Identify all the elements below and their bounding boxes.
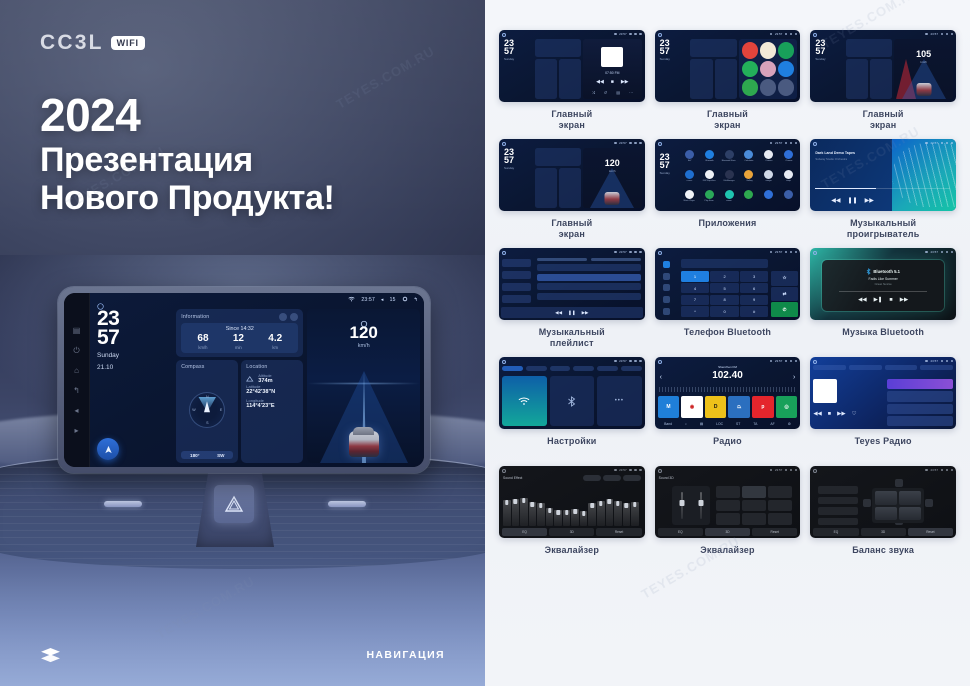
- prev-icon[interactable]: ◀◀: [858, 297, 866, 303]
- information-widget[interactable]: Information Since 14:32: [176, 309, 303, 357]
- widgets-column: Information Since 14:32: [176, 309, 303, 463]
- app-item[interactable]: [760, 190, 778, 208]
- favorite-icon[interactable]: ♡: [852, 411, 857, 417]
- effect-button[interactable]: [716, 486, 740, 498]
- status-time: 23:57: [930, 32, 938, 36]
- list-icon[interactable]: ▤: [616, 90, 620, 95]
- sidebar-item[interactable]: [502, 283, 531, 291]
- ta-icon[interactable]: TA: [753, 422, 757, 426]
- app-item[interactable]: Camera: [760, 150, 778, 168]
- app-item[interactable]: [780, 190, 798, 208]
- play-pause-icon[interactable]: ▶❚: [874, 297, 883, 303]
- sidebar-item[interactable]: [502, 271, 531, 279]
- back-arrow-icon[interactable]: ↰: [414, 297, 418, 303]
- list-item[interactable]: [537, 293, 640, 300]
- app-icon[interactable]: [742, 42, 758, 59]
- app-item[interactable]: DSP Equalizer: [701, 170, 719, 188]
- thumbnail-home-music[interactable]: 23:57 23 57 Sunday 07:5: [499, 30, 645, 102]
- location-widget: [559, 168, 581, 208]
- eq-tab[interactable]: EQ: [658, 528, 703, 536]
- thumbnail-playlist[interactable]: 23:57 ◀◀❚❚▶▶: [499, 248, 645, 320]
- equalizer-footer[interactable]: EQ 3D Reset: [502, 528, 642, 536]
- thumbnail-settings[interactable]: 23:57: [499, 357, 645, 429]
- app-item[interactable]: Maps: [780, 170, 798, 188]
- pause-icon[interactable]: ❚❚: [848, 197, 858, 204]
- next-icon[interactable]: ▶▶: [582, 310, 589, 316]
- eq-band[interactable]: [520, 498, 528, 526]
- eq-band[interactable]: [614, 501, 622, 526]
- preset-station[interactable]: ◉: [681, 396, 703, 418]
- navigation-panel[interactable]: 120 km/h: [307, 309, 420, 463]
- eq-tab[interactable]: Reset: [752, 528, 797, 536]
- list-item[interactable]: [887, 416, 953, 426]
- gallery-cell[interactable]: 23:57 23 57 Sunday 07:5: [499, 30, 645, 131]
- more-icon[interactable]: ⋯: [629, 90, 633, 95]
- thumbnail-music-player[interactable]: 23:57 Dark Land Demo Tapes Subway Studio…: [810, 139, 956, 211]
- eq-band[interactable]: [563, 510, 571, 526]
- player-controls[interactable]: ◀◀ ▶❚ ■ ▶▶: [858, 297, 908, 303]
- expand-icon[interactable]: [290, 313, 298, 321]
- player-controls[interactable]: ◀◀ ❚❚ ▶▶: [810, 197, 894, 204]
- contacts-icon[interactable]: [663, 273, 670, 280]
- call-icon[interactable]: ✆: [771, 302, 799, 317]
- app-item[interactable]: Bluetooth: [701, 150, 719, 168]
- dial-pad[interactable]: 1 2 3 4 5 6 7 8 9 * 0 #: [681, 271, 768, 317]
- app-icon[interactable]: [742, 79, 758, 96]
- gallery-cell[interactable]: 23:57 Bluetooth 5.1 Fadis Like Summer Oc…: [810, 248, 956, 349]
- play-icon[interactable]: ■: [611, 79, 614, 85]
- dialpad-icon[interactable]: [663, 261, 670, 268]
- settings-icon[interactable]: ⚙: [788, 422, 791, 426]
- power-icon[interactable]: ⏻: [72, 346, 81, 355]
- eq-band[interactable]: [623, 503, 631, 526]
- gallery-cell[interactable]: 23:57 Shenzhen FM ‹ 102.40 › M ◉ D ⏢ p ◎: [655, 357, 801, 458]
- gear-icon: [790, 33, 793, 36]
- star-icon[interactable]: ☆: [771, 271, 799, 286]
- app-item[interactable]: Calculator: [740, 150, 758, 168]
- player-controls[interactable]: ◀◀■▶▶: [583, 79, 642, 85]
- stat-unit: km: [268, 345, 282, 350]
- app-icon[interactable]: [784, 170, 793, 179]
- effect-button[interactable]: [716, 513, 740, 525]
- band-icon[interactable]: Band: [664, 422, 672, 426]
- clock-day: Sunday: [813, 57, 844, 61]
- gear-icon[interactable]: [402, 296, 408, 304]
- stop-icon[interactable]: ■: [889, 297, 892, 303]
- sidebar-item[interactable]: [502, 295, 531, 303]
- dial-key[interactable]: *: [681, 306, 709, 317]
- cell-caption: Эквалайзер: [700, 545, 754, 567]
- eq-band[interactable]: [529, 502, 537, 526]
- progress-bar[interactable]: [815, 188, 950, 189]
- eq-tab[interactable]: EQ: [502, 528, 547, 536]
- eq-band[interactable]: [588, 503, 596, 526]
- gallery-cell[interactable]: 23:57 23 57 Sunday: [655, 30, 801, 131]
- app-icon[interactable]: [705, 150, 714, 159]
- prev-icon[interactable]: ◀◀: [555, 310, 562, 316]
- search-icon[interactable]: ⌕: [685, 422, 687, 426]
- app-icon[interactable]: [705, 190, 714, 199]
- dial-key[interactable]: 9: [740, 295, 768, 306]
- effect-button[interactable]: [742, 513, 766, 525]
- volume-icon: [785, 360, 788, 363]
- balance-up-icon[interactable]: [895, 479, 903, 487]
- app-icon[interactable]: [742, 61, 758, 78]
- effect-button[interactable]: [742, 486, 766, 498]
- playlist-table[interactable]: [535, 256, 642, 306]
- tab-wlan[interactable]: [502, 366, 523, 371]
- bluetooth-icon: [866, 268, 871, 275]
- repeat-icon[interactable]: ↺: [604, 90, 607, 95]
- preset-row[interactable]: [818, 486, 859, 494]
- bluetooth-card[interactable]: [550, 376, 595, 426]
- dial-key[interactable]: 5: [710, 283, 738, 294]
- menu-icon[interactable]: ▤: [72, 326, 81, 335]
- dial-key[interactable]: 2: [710, 271, 738, 282]
- dial-key[interactable]: 3: [740, 271, 768, 282]
- information-actions[interactable]: [279, 313, 298, 321]
- more-card[interactable]: •••: [597, 376, 642, 426]
- app-label: Bluetooth: [705, 160, 713, 162]
- gallery-cell[interactable]: 23:57 EQ 3D Reset Баланс звука: [810, 466, 956, 567]
- phone-actions[interactable]: ☆ ⇄ ✆: [771, 271, 799, 317]
- app-item[interactable]: Clocks: [681, 170, 699, 188]
- loc-icon[interactable]: LOC: [716, 422, 723, 426]
- app-icon[interactable]: [764, 190, 773, 199]
- tab[interactable]: [537, 258, 587, 261]
- app-item[interactable]: [740, 190, 758, 208]
- tab[interactable]: [849, 365, 882, 370]
- information-widget: [846, 39, 892, 57]
- app-icon[interactable]: [725, 190, 734, 199]
- app-item[interactable]: FileManager: [720, 170, 738, 188]
- tab[interactable]: [920, 365, 953, 370]
- prev-icon[interactable]: ◀◀: [596, 79, 604, 85]
- home-icon: [502, 142, 506, 146]
- refresh-icon[interactable]: [279, 313, 287, 321]
- thumbnail-bluetooth-music[interactable]: 23:57 Bluetooth 5.1 Fadis Like Summer Oc…: [810, 248, 956, 320]
- eq-band[interactable]: [606, 499, 614, 526]
- teyes-station-list[interactable]: [887, 379, 953, 426]
- equalizer-footer[interactable]: EQ 3D Reset: [813, 528, 953, 536]
- balance-right-icon[interactable]: [925, 499, 933, 507]
- app-icon[interactable]: [685, 190, 694, 199]
- gallery-cell[interactable]: 23:57 Sound Effect: [499, 466, 645, 567]
- app-icon[interactable]: [778, 79, 794, 96]
- eq-band[interactable]: [571, 509, 579, 526]
- volume-up-icon[interactable]: ▸: [72, 426, 81, 435]
- status-time: 23:57: [775, 250, 783, 254]
- phone-sidebar[interactable]: [655, 256, 678, 320]
- equalizer-presets[interactable]: [583, 475, 641, 481]
- eq-band[interactable]: [597, 501, 605, 526]
- home-icon[interactable]: ⌂: [72, 366, 81, 375]
- radio-band-label: Shenzhen FM: [655, 365, 801, 369]
- tab-display[interactable]: [550, 366, 571, 371]
- transfer-icon[interactable]: ⇄: [771, 287, 799, 302]
- effect-button[interactable]: [768, 486, 792, 498]
- gallery-cell[interactable]: 23:57 Dark Land Demo Tapes Subway Studio…: [810, 139, 956, 240]
- balance-presets[interactable]: [818, 486, 859, 525]
- wifi-card[interactable]: [502, 376, 547, 426]
- gallery-cell[interactable]: 23:57: [499, 357, 645, 458]
- app-icon[interactable]: [705, 170, 714, 179]
- app-icon[interactable]: [744, 150, 753, 159]
- frequency-scale[interactable]: [659, 387, 797, 392]
- thumbnail-home-apps[interactable]: 23:57 23 57 Sunday: [655, 30, 801, 102]
- preset-row[interactable]: [818, 518, 859, 526]
- dial-key[interactable]: 6: [740, 283, 768, 294]
- phone-number-input[interactable]: [681, 259, 768, 268]
- eq-tab[interactable]: EQ: [813, 528, 858, 536]
- effect-button[interactable]: [768, 500, 792, 512]
- preset-station[interactable]: D: [705, 396, 727, 418]
- gallery-cell[interactable]: 23:57 ◀◀■▶▶♡ Teyes Радио: [810, 357, 956, 458]
- cell-caption: Настройки: [547, 436, 596, 458]
- app-icon[interactable]: [760, 42, 776, 59]
- list-item[interactable]: [887, 404, 953, 414]
- thumbnail-radio[interactable]: 23:57 Shenzhen FM ‹ 102.40 › M ◉ D ⏢ p ◎: [655, 357, 801, 429]
- clock-col: 23 57 Sunday: [658, 153, 670, 175]
- app-icon[interactable]: [760, 61, 776, 78]
- cell-caption: Главныйэкран: [707, 109, 748, 131]
- dual-sliders[interactable]: [672, 486, 710, 525]
- playlist-tabs[interactable]: [537, 258, 640, 261]
- station-presets[interactable]: M ◉ D ⏢ p ◎: [658, 396, 798, 418]
- thumbnail-bluetooth-phone[interactable]: 23:57 1 2 3 4 5 6: [655, 248, 801, 320]
- tab-sound[interactable]: [526, 366, 547, 371]
- more-icon: •••: [615, 398, 624, 404]
- app-icon[interactable]: [685, 150, 694, 159]
- effect-button[interactable]: [742, 500, 766, 512]
- dial-key[interactable]: 7: [681, 295, 709, 306]
- balance-pad[interactable]: [872, 488, 924, 523]
- slider[interactable]: [681, 492, 683, 519]
- location-widget[interactable]: Location Altitude 374m: [241, 360, 303, 463]
- gallery-cell[interactable]: 23:57 23 57 Sunday 120: [499, 139, 645, 240]
- sidebar-item[interactable]: [502, 259, 531, 267]
- dial-key[interactable]: #: [740, 306, 768, 317]
- eq-tab[interactable]: 3D: [549, 528, 594, 536]
- hero-headline: 2024 Презентация Нового Продукта!: [40, 92, 334, 217]
- app-icon[interactable]: [725, 150, 734, 159]
- volume-down-icon[interactable]: ◂: [72, 406, 81, 415]
- app-item[interactable]: Play Store: [701, 190, 719, 208]
- back-icon[interactable]: ↰: [72, 386, 81, 395]
- back-icon: [951, 360, 954, 363]
- teyes-radio-tabs[interactable]: [813, 365, 953, 370]
- history-icon[interactable]: [663, 296, 670, 303]
- list-item[interactable]: [887, 391, 953, 401]
- dial-key[interactable]: 0: [710, 306, 738, 317]
- tab[interactable]: [813, 365, 846, 370]
- next-icon[interactable]: ▶▶: [900, 297, 908, 303]
- compass-widget[interactable]: Compass N S W E: [176, 360, 238, 463]
- back-icon: [951, 251, 954, 254]
- search-icon[interactable]: [663, 284, 670, 291]
- speaker-quadrant[interactable]: [899, 491, 921, 505]
- dial-key[interactable]: 4: [681, 283, 709, 294]
- effect-grid[interactable]: [716, 486, 792, 525]
- wifi-icon: [614, 469, 617, 472]
- tab[interactable]: [591, 258, 641, 261]
- app-icon[interactable]: [778, 61, 794, 78]
- list-item[interactable]: [537, 264, 640, 271]
- gallery-cell[interactable]: 23:57 ◀◀❚❚▶▶ Музыкальныйплейлист: [499, 248, 645, 349]
- preset-row[interactable]: [818, 497, 859, 505]
- app-item[interactable]: Gallery: [740, 170, 758, 188]
- compass-label-w: W: [192, 408, 195, 412]
- gear-icon: [634, 33, 637, 36]
- preset-button[interactable]: [583, 475, 601, 481]
- app-item[interactable]: Music Player: [681, 190, 699, 208]
- gear-icon: [790, 469, 793, 472]
- slider[interactable]: [700, 492, 702, 519]
- equalizer-bands[interactable]: [503, 487, 639, 526]
- radio-toolbar[interactable]: Band ⌕ ▤ LOC ST TA AF ⚙: [658, 420, 798, 427]
- gallery-cell[interactable]: 23:57 1 2 3 4 5 6: [655, 248, 801, 349]
- head-unit-side-buttons[interactable]: ▤ ⏻ ⌂ ↰ ◂ ▸: [64, 293, 90, 467]
- speaker-quadrant[interactable]: [875, 491, 897, 505]
- prev-icon[interactable]: ◀◀: [831, 197, 840, 204]
- preset-row[interactable]: [818, 507, 859, 515]
- clock-minutes: 57: [502, 47, 533, 55]
- thumbnail-sound-balance[interactable]: 23:57 EQ 3D Reset: [810, 466, 956, 538]
- app-icon[interactable]: [784, 150, 793, 159]
- app-item[interactable]: Bluetooth Music: [720, 150, 738, 168]
- screen-home-icon[interactable]: [97, 297, 104, 315]
- hazard-light-button[interactable]: [214, 485, 254, 523]
- preset-button[interactable]: [603, 475, 621, 481]
- eq-tab[interactable]: 3D: [705, 528, 750, 536]
- mini-player-bar[interactable]: ◀◀❚❚▶▶: [501, 307, 643, 318]
- tab-general[interactable]: [597, 366, 618, 371]
- thumbnail-home-nav2[interactable]: 23:57 23 57 Sunday 120: [499, 139, 645, 211]
- eq-tab[interactable]: Reset: [908, 528, 953, 536]
- app-icon[interactable]: [725, 170, 734, 179]
- preset-station[interactable]: p: [752, 396, 774, 418]
- balance-left-icon[interactable]: [863, 499, 871, 507]
- app-icon[interactable]: [784, 190, 793, 199]
- app-item[interactable]: A/V: [681, 150, 699, 168]
- player-controls[interactable]: ◀◀■▶▶♡: [813, 411, 886, 417]
- shuffle-icon[interactable]: ⤨: [592, 90, 595, 95]
- navigation-fab-button[interactable]: [97, 438, 119, 460]
- compass-widget: [846, 59, 868, 99]
- list-item[interactable]: [537, 274, 640, 281]
- eq-tab[interactable]: Reset: [596, 528, 641, 536]
- dial-key[interactable]: 8: [710, 295, 738, 306]
- app-shortcuts-widget[interactable]: [739, 39, 798, 99]
- equalizer-footer[interactable]: EQ 3D Reset: [658, 528, 798, 536]
- player-footer[interactable]: ⤨↺▤⋯: [587, 90, 638, 95]
- dial-key[interactable]: 1: [681, 271, 709, 282]
- tab-apps[interactable]: [573, 366, 594, 371]
- next-icon[interactable]: ▶▶: [837, 411, 845, 417]
- speaker-quadrant[interactable]: [875, 507, 897, 521]
- app-icon[interactable]: [760, 79, 776, 96]
- af-icon[interactable]: AF: [770, 422, 774, 426]
- clock-minutes: 57: [658, 161, 670, 169]
- stereo-icon[interactable]: ST: [736, 422, 740, 426]
- preset-station[interactable]: M: [658, 396, 680, 418]
- home-icon: [658, 33, 662, 37]
- status-time: 23:57: [930, 468, 938, 472]
- settings-icon[interactable]: [663, 308, 670, 315]
- speaker-quadrant[interactable]: [899, 507, 921, 521]
- thumbnail-apps[interactable]: 23:57 23 57 Sunday A/V Bluetooth Bluetoo…: [655, 139, 801, 211]
- preset-button[interactable]: [623, 475, 641, 481]
- eq-band[interactable]: [537, 503, 545, 526]
- gear-icon: [634, 469, 637, 472]
- bluetooth-device-row: Bluetooth 5.1: [866, 268, 900, 275]
- eq-band[interactable]: [631, 502, 639, 526]
- eq-band[interactable]: [554, 510, 562, 526]
- eq-band[interactable]: [512, 499, 520, 526]
- preset-station[interactable]: ◎: [776, 396, 798, 418]
- settings-tabs[interactable]: [502, 366, 642, 371]
- album-cover: [813, 379, 837, 403]
- speed-unit: km/h: [583, 169, 642, 173]
- next-icon[interactable]: ▶▶: [621, 79, 629, 85]
- eq-band[interactable]: [546, 508, 554, 526]
- wifi-icon: [614, 251, 617, 254]
- status-time: 23:57: [775, 359, 783, 363]
- equalizer-title: Sound Effect: [503, 476, 522, 480]
- next-station-icon[interactable]: ›: [793, 374, 795, 381]
- visualizer-panel: [892, 139, 956, 211]
- app-item[interactable]: Chrome: [780, 150, 798, 168]
- next-icon[interactable]: ▶▶: [865, 197, 874, 204]
- prev-icon[interactable]: ◀◀: [813, 411, 821, 417]
- app-icon[interactable]: [764, 170, 773, 179]
- app-drawer-grid[interactable]: A/V Bluetooth Bluetooth Music Calculator…: [681, 150, 797, 208]
- app-icon[interactable]: [744, 170, 753, 179]
- gallery-cell[interactable]: 23:57 Sound 3D EQ: [655, 466, 801, 567]
- list-icon[interactable]: ▤: [700, 422, 703, 426]
- preset-station[interactable]: ⏢: [728, 396, 750, 418]
- app-icon[interactable]: [778, 42, 794, 59]
- list-item[interactable]: [887, 379, 953, 389]
- app-icon[interactable]: [685, 170, 694, 179]
- thumbnail-equalizer[interactable]: 23:57 Sound Effect: [499, 466, 645, 538]
- thumbnail-equalizer-3d[interactable]: 23:57 Sound 3D EQ: [655, 466, 801, 538]
- app-item[interactable]: Google: [760, 170, 778, 188]
- list-item[interactable]: [537, 283, 640, 290]
- gallery-cell[interactable]: 23:57 23 57 Sunday: [810, 30, 956, 131]
- tab-system[interactable]: [621, 366, 642, 371]
- settings-cards[interactable]: •••: [502, 376, 642, 426]
- progress-bar[interactable]: [839, 291, 927, 292]
- effect-button[interactable]: [768, 513, 792, 525]
- app-icon[interactable]: [764, 150, 773, 159]
- bluetooth-card: Bluetooth 5.1 Fadis Like Summer Ocean Su…: [822, 260, 944, 312]
- stop-icon[interactable]: ■: [828, 411, 831, 417]
- thumbnail-home-nav[interactable]: 23:57 23 57 Sunday: [810, 30, 956, 102]
- effect-button[interactable]: [716, 500, 740, 512]
- app-item[interactable]: Radio: [720, 190, 738, 208]
- eq-band[interactable]: [503, 500, 511, 526]
- eq-tab[interactable]: 3D: [861, 528, 906, 536]
- volume-icon: [629, 469, 632, 472]
- tab[interactable]: [885, 365, 918, 370]
- gallery-cell[interactable]: 23:57 23 57 Sunday A/V Bluetooth Bluetoo…: [655, 139, 801, 240]
- pause-icon[interactable]: ❚❚: [568, 310, 576, 316]
- thumbnail-teyes-radio[interactable]: 23:57 ◀◀■▶▶♡: [810, 357, 956, 429]
- status-time: 23:57: [930, 359, 938, 363]
- eq-band[interactable]: [580, 511, 588, 526]
- app-icon[interactable]: [744, 190, 753, 199]
